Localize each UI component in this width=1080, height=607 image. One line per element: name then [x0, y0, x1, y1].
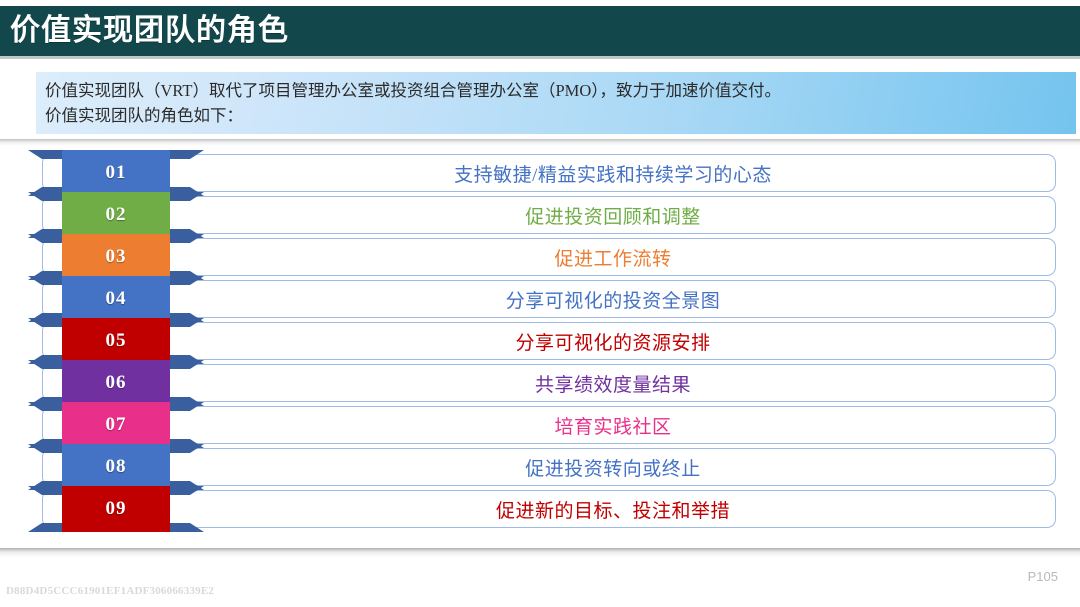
role-row[interactable]: 促进投资回顾和调整02	[0, 196, 1080, 234]
ribbon-body: 05	[62, 318, 170, 364]
role-label: 支持敏捷/精益实践和持续学习的心态	[170, 154, 1056, 192]
role-label: 共享绩效度量结果	[170, 364, 1056, 402]
title-underline	[0, 56, 1080, 59]
ribbon-body: 07	[62, 402, 170, 448]
role-row[interactable]: 促进工作流转03	[0, 238, 1080, 276]
page-number: P105	[1028, 569, 1058, 584]
role-number: 04	[106, 288, 127, 310]
roles-list: 支持敏捷/精益实践和持续学习的心态01促进投资回顾和调整02促进工作流转03分享…	[0, 154, 1080, 532]
role-row[interactable]: 支持敏捷/精益实践和持续学习的心态01	[0, 154, 1080, 192]
role-number: 07	[106, 414, 127, 436]
role-number-ribbon: 04	[62, 276, 170, 322]
role-number-ribbon: 02	[62, 192, 170, 238]
page-title: 价值实现团队的角色	[10, 16, 289, 46]
role-label: 分享可视化的投资全景图	[170, 280, 1056, 318]
banner-divider-shadow	[0, 139, 1080, 146]
role-label: 分享可视化的资源安排	[170, 322, 1056, 360]
role-number-ribbon: 07	[62, 402, 170, 448]
role-row[interactable]: 分享可视化的资源安排05	[0, 322, 1080, 360]
intro-line-2: 价值实现团队的角色如下：	[36, 103, 1076, 128]
watermark-id: D88D4D5CCC61901EF1ADF306066339E2	[6, 585, 214, 597]
ribbon-body: 06	[62, 360, 170, 406]
ribbon-body: 09	[62, 486, 170, 532]
role-number: 03	[106, 246, 127, 268]
role-number-ribbon: 03	[62, 234, 170, 280]
role-number-ribbon: 01	[62, 150, 170, 196]
ribbon-body: 03	[62, 234, 170, 280]
role-row[interactable]: 促进投资转向或终止08	[0, 448, 1080, 486]
role-label: 促进投资转向或终止	[170, 448, 1056, 486]
role-number: 08	[106, 456, 127, 478]
role-number-ribbon: 08	[62, 444, 170, 490]
role-label: 促进工作流转	[170, 238, 1056, 276]
role-number: 06	[106, 372, 127, 394]
role-label: 促进新的目标、投注和举措	[170, 490, 1056, 528]
role-row[interactable]: 分享可视化的投资全景图04	[0, 280, 1080, 318]
ribbon-body: 01	[62, 150, 170, 196]
role-label: 培育实践社区	[170, 406, 1056, 444]
role-number-ribbon: 06	[62, 360, 170, 406]
intro-line-1: 价值实现团队（VRT）取代了项目管理办公室或投资组合管理办公室（PMO），致力于…	[36, 78, 1076, 103]
role-number: 01	[106, 162, 127, 184]
intro-banner: 价值实现团队（VRT）取代了项目管理办公室或投资组合管理办公室（PMO），致力于…	[36, 72, 1076, 134]
slide-canvas: 价值实现团队的角色 价值实现团队（VRT）取代了项目管理办公室或投资组合管理办公…	[0, 0, 1080, 607]
role-number: 05	[106, 330, 127, 352]
role-row[interactable]: 培育实践社区07	[0, 406, 1080, 444]
role-number-ribbon: 09	[62, 486, 170, 532]
ribbon-body: 08	[62, 444, 170, 490]
role-row[interactable]: 促进新的目标、投注和举措09	[0, 490, 1080, 528]
role-number: 09	[106, 498, 127, 520]
role-label: 促进投资回顾和调整	[170, 196, 1056, 234]
ribbon-body: 02	[62, 192, 170, 238]
role-row[interactable]: 共享绩效度量结果06	[0, 364, 1080, 402]
slide-title-bar: 价值实现团队的角色	[0, 6, 1080, 56]
role-number: 02	[106, 204, 127, 226]
ribbon-body: 04	[62, 276, 170, 322]
role-number-ribbon: 05	[62, 318, 170, 364]
content-bottom-shadow	[0, 548, 1080, 557]
